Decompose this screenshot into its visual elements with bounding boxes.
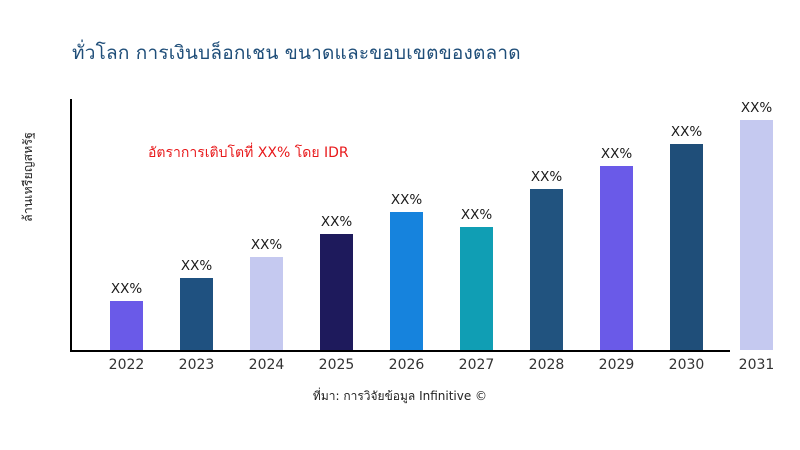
- growth-rate-annotation: อัตราการเติบโตที่ XX% โดย IDR: [148, 142, 349, 164]
- bar-value-label: XX%: [516, 169, 577, 185]
- y-axis-label-wrapper: ล้านเหรียญสหรัฐ: [0, 95, 60, 270]
- bar-group[interactable]: XX%: [460, 227, 493, 350]
- x-axis-tick-label: 2023: [166, 357, 227, 373]
- bar-value-label: XX%: [726, 100, 787, 116]
- bar[interactable]: [390, 212, 423, 350]
- bar[interactable]: [460, 227, 493, 350]
- bar-value-label: XX%: [586, 146, 647, 162]
- bar[interactable]: [320, 234, 353, 350]
- x-axis-tick-label: 2022: [96, 357, 157, 373]
- bar-value-label: XX%: [376, 192, 437, 208]
- x-axis-tick-label: 2027: [446, 357, 507, 373]
- source-caption: ที่มา: การวิจัยข้อมูล Infinitive ©: [0, 387, 800, 406]
- x-axis-tick-label: 2024: [236, 357, 297, 373]
- bar-value-label: XX%: [236, 237, 297, 253]
- bar-group[interactable]: XX%: [600, 166, 633, 350]
- x-axis-line: [70, 350, 730, 352]
- x-axis-tick-label: 2031: [726, 357, 787, 373]
- y-axis-line: [70, 99, 72, 352]
- bar-value-label: XX%: [306, 214, 367, 230]
- chart-title: ทั่วโลก การเงินบล็อกเชน ขนาดและขอบเขตของ…: [72, 38, 521, 68]
- bar-value-label: XX%: [656, 124, 717, 140]
- chart-canvas: ทั่วโลก การเงินบล็อกเชน ขนาดและขอบเขตของ…: [0, 0, 800, 450]
- bar-group[interactable]: XX%: [250, 257, 283, 350]
- bar[interactable]: [740, 120, 773, 350]
- bar[interactable]: [250, 257, 283, 350]
- bar-group[interactable]: XX%: [180, 278, 213, 350]
- bar[interactable]: [600, 166, 633, 350]
- x-axis-tick-label: 2029: [586, 357, 647, 373]
- bar-group[interactable]: XX%: [390, 212, 423, 350]
- plot-area: XX%XX%XX%XX%XX%XX%XX%XX%XX%XX% 202220232…: [70, 99, 730, 352]
- bar[interactable]: [110, 301, 143, 350]
- bar-group[interactable]: XX%: [670, 144, 703, 350]
- bar-group[interactable]: XX%: [740, 120, 773, 350]
- bar-group[interactable]: XX%: [320, 234, 353, 350]
- bar[interactable]: [180, 278, 213, 350]
- bar-value-label: XX%: [96, 281, 157, 297]
- bar-group[interactable]: XX%: [530, 189, 563, 350]
- x-axis-tick-label: 2026: [376, 357, 437, 373]
- bar-group[interactable]: XX%: [110, 301, 143, 350]
- bar-value-label: XX%: [166, 258, 227, 274]
- x-axis-tick-label: 2025: [306, 357, 367, 373]
- y-axis-label: ล้านเหรียญสหรัฐ: [18, 97, 38, 257]
- x-axis-tick-label: 2028: [516, 357, 577, 373]
- bar[interactable]: [530, 189, 563, 350]
- x-axis-tick-label: 2030: [656, 357, 717, 373]
- bar-value-label: XX%: [446, 207, 507, 223]
- bar[interactable]: [670, 144, 703, 350]
